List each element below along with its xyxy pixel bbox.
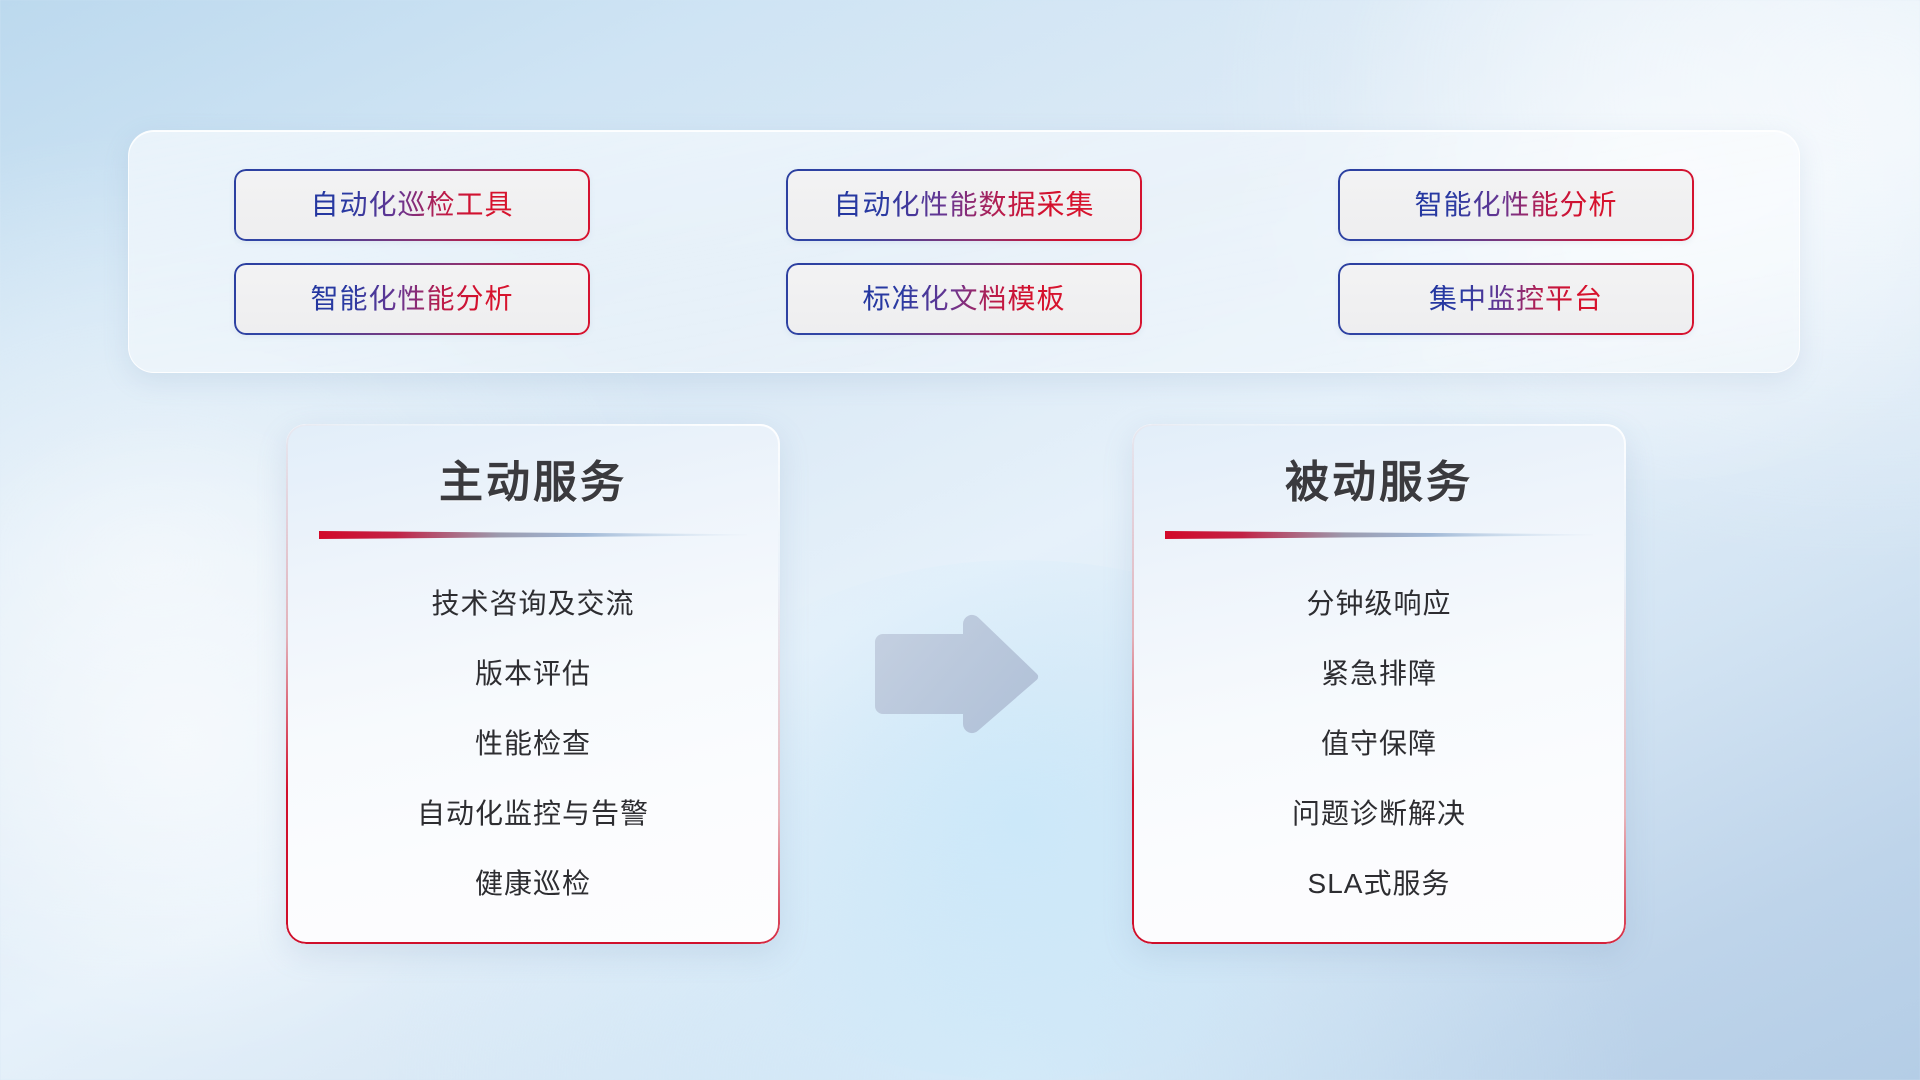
capability-tags-panel: 自动化巡检工具 自动化性能数据采集 智能化性能分析 智能化性能分析 标准化文档模… (128, 130, 1800, 373)
capability-tag[interactable]: 智能化性能分析 (234, 263, 590, 335)
capability-tags-row-1: 自动化巡检工具 自动化性能数据采集 智能化性能分析 (129, 169, 1799, 241)
title-divider (1165, 529, 1593, 541)
capability-tag[interactable]: 集中监控平台 (1338, 263, 1694, 335)
service-item-list: 技术咨询及交流 版本评估 性能检查 自动化监控与告警 健康巡检 (326, 569, 740, 919)
service-card-proactive: 主动服务 (286, 424, 780, 944)
capability-tag[interactable]: 智能化性能分析 (1338, 169, 1694, 241)
service-item-list: 分钟级响应 紧急排障 值守保障 问题诊断解决 SLA式服务 (1172, 569, 1586, 919)
capability-tags-row-2: 智能化性能分析 标准化文档模板 集中监控平台 (129, 263, 1799, 335)
capability-tag-label: 自动化巡检工具 (310, 191, 513, 219)
diagram-stage: 自动化巡检工具 自动化性能数据采集 智能化性能分析 智能化性能分析 标准化文档模… (0, 0, 1920, 1080)
arrow-right-icon (871, 612, 1045, 736)
service-card-title: 被动服务 (1285, 458, 1473, 509)
capability-tag-label: 标准化文档模板 (862, 285, 1065, 313)
service-list-item: 分钟级响应 (1306, 569, 1451, 639)
capability-tag-label: 智能化性能分析 (1414, 191, 1617, 219)
capability-tag[interactable]: 自动化性能数据采集 (786, 169, 1142, 241)
service-card-reactive: 被动服务 (1132, 424, 1626, 944)
service-list-item: 技术咨询及交流 (431, 569, 634, 639)
capability-tag[interactable]: 标准化文档模板 (786, 263, 1142, 335)
capability-tag-label: 自动化性能数据采集 (833, 191, 1094, 219)
service-list-item: 性能检查 (475, 709, 591, 779)
service-list-item: 问题诊断解决 (1292, 779, 1466, 849)
title-divider (319, 529, 747, 541)
capability-tag-label: 智能化性能分析 (310, 285, 513, 313)
service-list-item: 自动化监控与告警 (417, 779, 649, 849)
capability-tag[interactable]: 自动化巡检工具 (234, 169, 590, 241)
service-list-item: 紧急排障 (1321, 639, 1437, 709)
service-list-item: SLA式服务 (1308, 849, 1451, 919)
service-list-item: 健康巡检 (475, 849, 591, 919)
service-list-item: 值守保障 (1321, 709, 1437, 779)
capability-tag-label: 集中监控平台 (1429, 285, 1603, 313)
service-card-title: 主动服务 (439, 458, 627, 509)
service-list-item: 版本评估 (475, 639, 591, 709)
